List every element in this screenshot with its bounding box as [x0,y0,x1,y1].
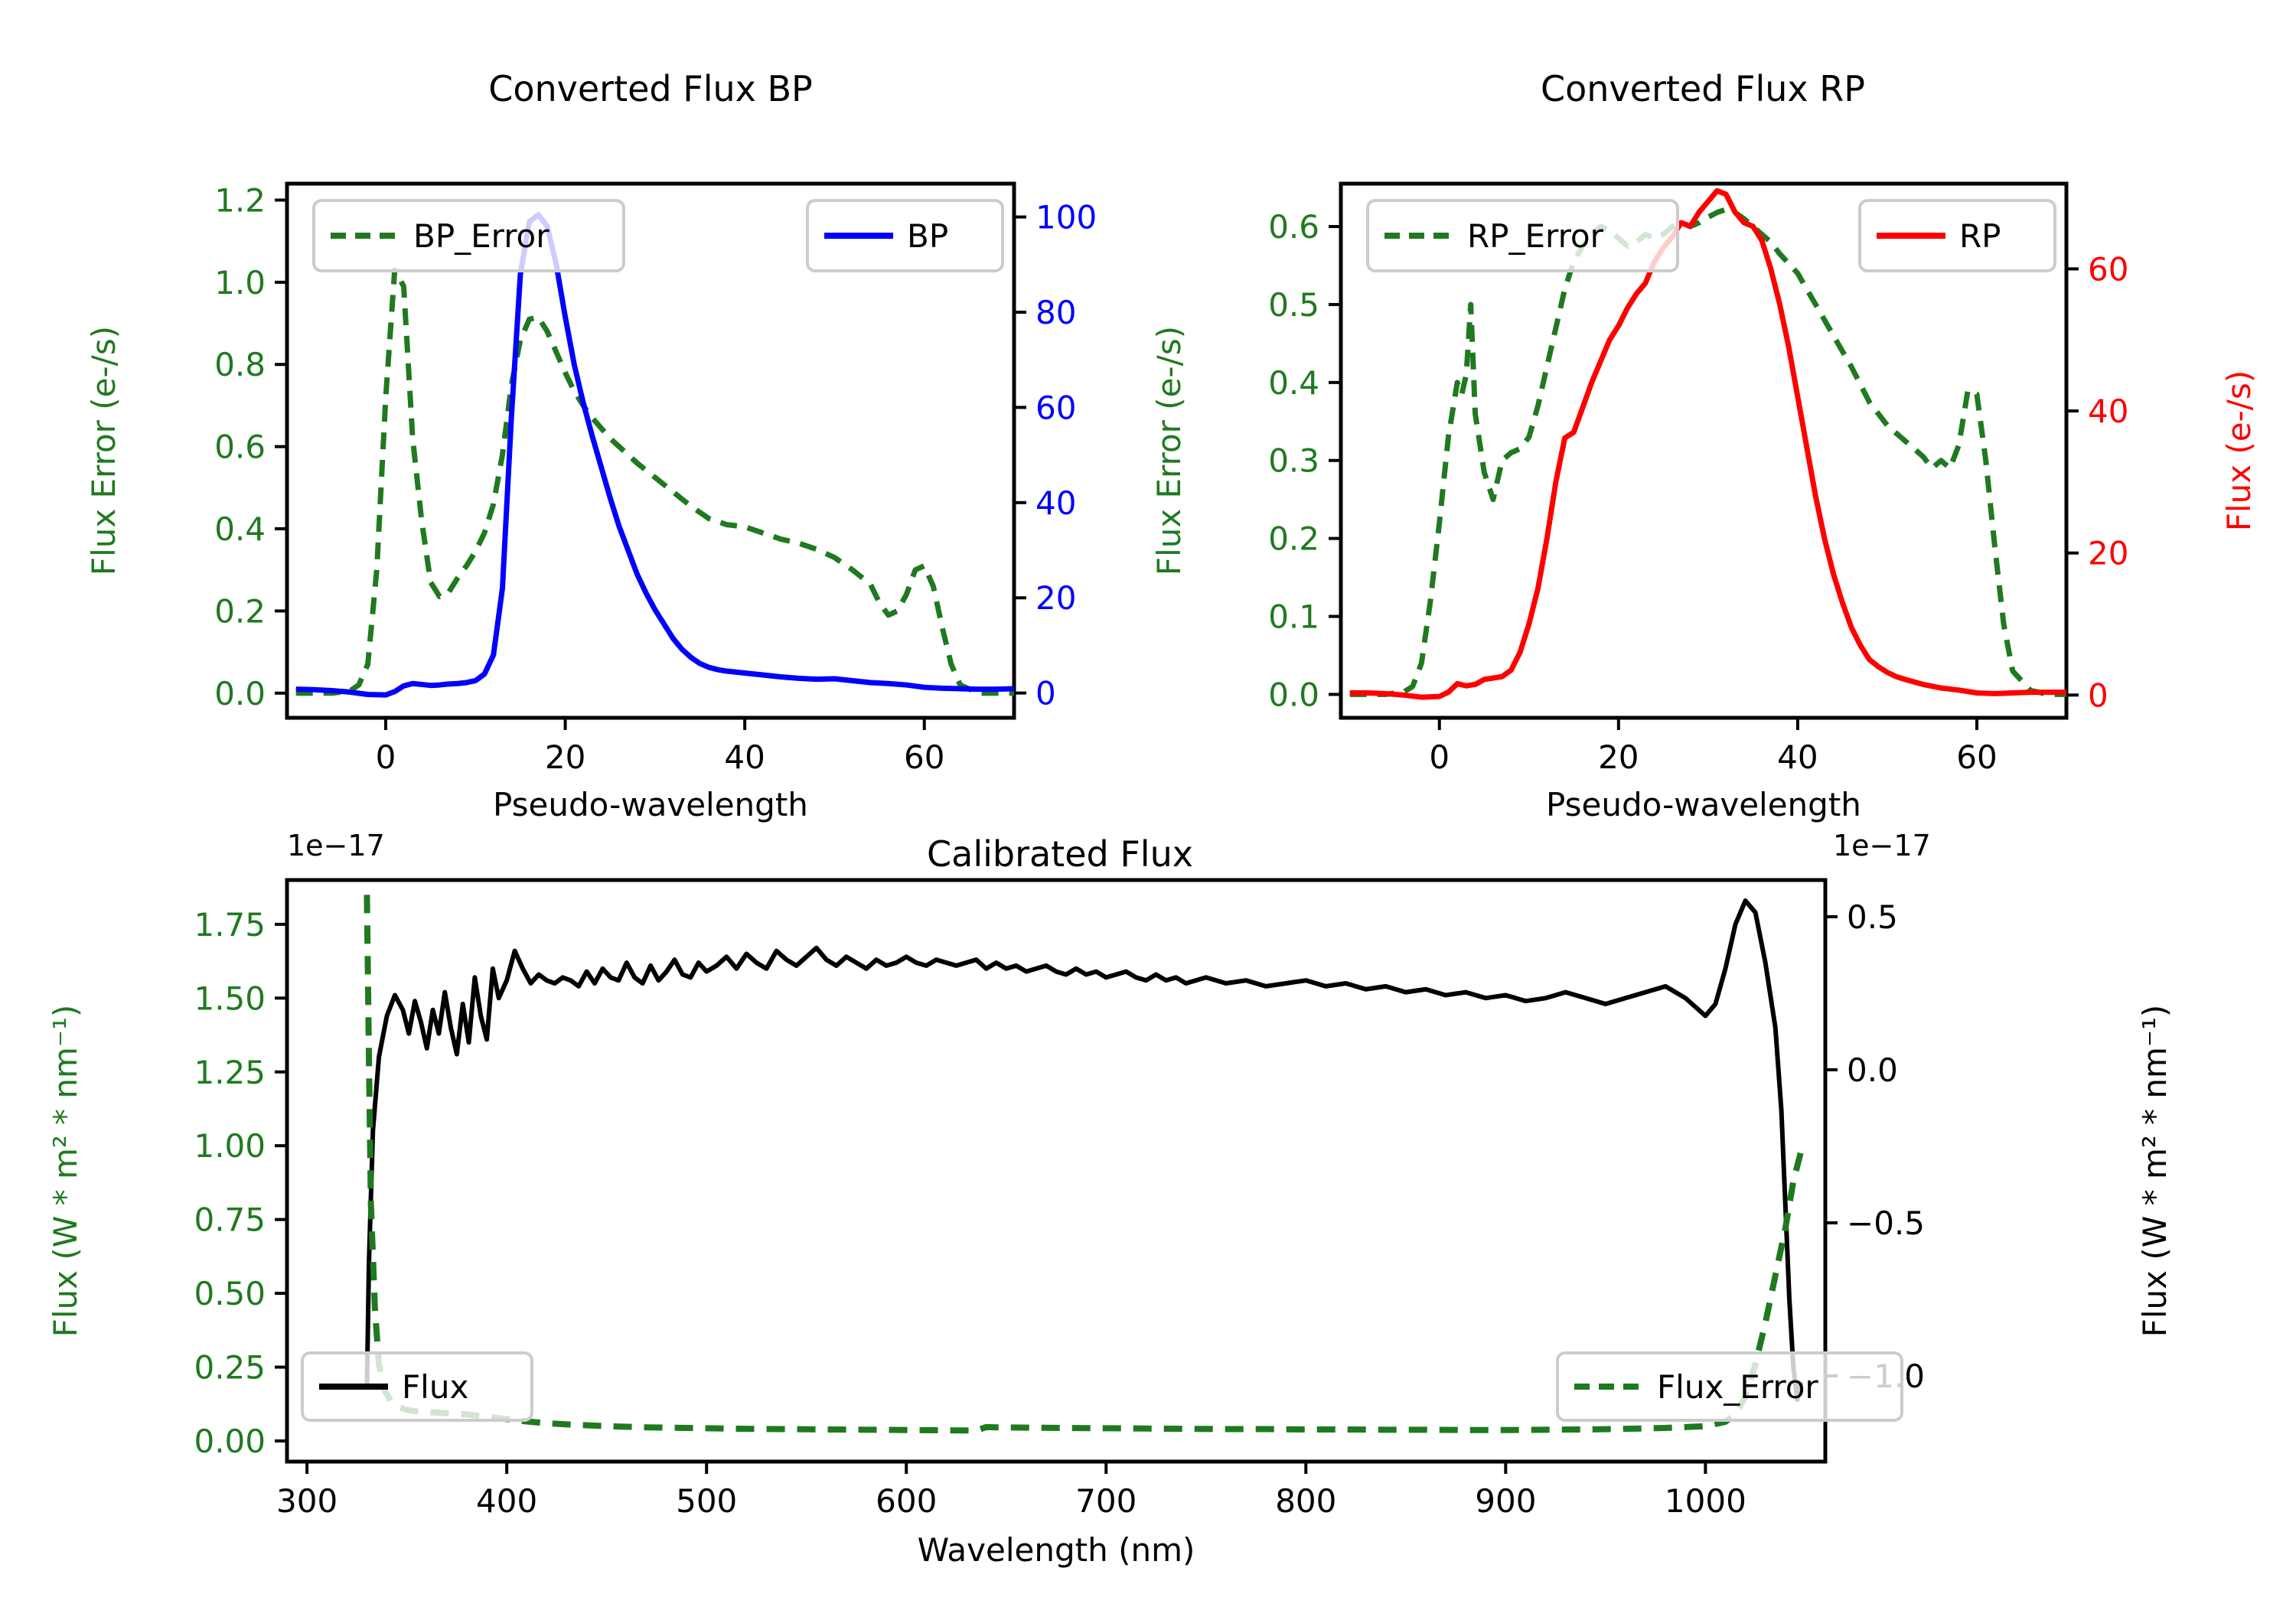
x-tick-label: 0 [1429,738,1450,776]
y-tick-label-left: 1.00 [194,1127,266,1165]
series-line-bp_error [296,270,1014,693]
calibrated-title: Calibrated Flux [927,833,1193,875]
calibrated-svg: Calibrated Flux 1e−17 1e−17 300400500600… [0,826,2296,1607]
legend-label-rp: RP [1959,217,2001,255]
y-tick-label-right: 80 [1035,294,1076,331]
legend-bp-error[interactable]: BP_Error [314,200,624,271]
rp-svg: Converted Flux RP 0204060Pseudo-waveleng… [1148,61,2296,842]
y-tick-label-right: 20 [2088,535,2128,572]
x-axis-label: Pseudo-wavelength [493,786,808,823]
x-tick-label: 60 [1956,738,1997,776]
y-tick-label-left: 1.25 [194,1054,266,1091]
y-tick-label-left: 0.50 [194,1275,266,1312]
legend-label-flux: Flux [402,1368,468,1406]
y-tick-label-right: −0.5 [1847,1204,1925,1242]
y-axis-label-left: Flux Error (e-/s) [85,326,122,575]
x-tick-label: 40 [1777,738,1818,776]
y-axis-label-right: Flux (W * m² * nm⁻¹) [2136,1005,2174,1338]
y-tick-label-left: 0.2 [1268,520,1319,558]
x-tick-label: 700 [1075,1482,1137,1520]
x-tick-label: 500 [676,1482,737,1520]
y-tick-label-left: 1.50 [194,980,266,1017]
calibrated-left-offset-label: 1e−17 [287,829,385,862]
figure-canvas: Converted Flux BP 0204060Pseudo-waveleng… [0,0,2296,1607]
x-tick-label: 20 [545,738,585,776]
y-tick-label-right: 100 [1035,199,1097,236]
y-tick-label-left: 1.2 [214,181,266,219]
y-tick-label-left: 0.6 [1268,208,1319,246]
y-tick-label-left: 0.6 [214,429,266,466]
y-tick-label-right: 20 [1035,579,1076,617]
y-tick-label-right: 0 [2088,676,2108,714]
x-tick-label: 60 [904,738,944,776]
y-tick-label-left: 0.4 [1268,364,1319,402]
y-tick-label-right: 0.0 [1847,1051,1898,1089]
panel-calibrated-flux: Calibrated Flux 1e−17 1e−17 300400500600… [0,826,2296,1607]
legend-label-bp: BP [907,217,948,255]
y-tick-label-right: 40 [2088,393,2128,430]
y-tick-label-left: 0.8 [214,346,266,383]
legend-label-flux-error: Flux_Error [1657,1368,1818,1406]
calibrated-right-offset-label: 1e−17 [1833,829,1931,862]
y-tick-label-right: 0.5 [1847,898,1898,936]
y-tick-label-left: 1.0 [214,264,266,302]
legend-label-rp-error: RP_Error [1467,217,1604,255]
x-tick-label: 900 [1475,1482,1536,1520]
series-line-rp_error [1350,210,2066,695]
y-tick-label-left: 0.00 [194,1423,266,1460]
legend-bp[interactable]: BP [807,200,1003,271]
legend-rp-error[interactable]: RP_Error [1368,200,1678,271]
y-tick-label-left: 0.25 [194,1349,266,1387]
y-tick-label-left: 0.3 [1268,442,1319,480]
panel-converted-flux-bp: Converted Flux BP 0204060Pseudo-waveleng… [0,61,1148,842]
y-tick-label-left: 0.0 [1268,676,1319,713]
bp-title: Converted Flux BP [488,68,813,109]
y-tick-label-left: 0.0 [214,675,266,712]
y-axis-label-right: Flux (e-/s) [2220,370,2258,531]
x-axis-label: Wavelength (nm) [918,1531,1195,1569]
legend-flux-error[interactable]: Flux_Error [1557,1353,1902,1420]
x-tick-label: 300 [276,1482,338,1520]
x-tick-label: 40 [724,738,765,776]
y-tick-label-left: 1.75 [194,906,266,944]
x-tick-label: 600 [876,1482,937,1520]
y-axis-label-left: Flux Error (e-/s) [1150,326,1188,575]
y-tick-label-right: 60 [1035,389,1076,426]
bp-svg: Converted Flux BP 0204060Pseudo-waveleng… [0,61,1148,842]
y-tick-label-right: 40 [1035,484,1076,522]
x-tick-label: 1000 [1665,1482,1746,1520]
y-tick-label-left: 0.2 [214,592,266,630]
y-axis-label-left: Flux (W * m² * nm⁻¹) [47,1005,84,1338]
y-tick-label-right: 60 [2088,250,2128,288]
x-tick-label: 20 [1598,738,1639,776]
y-tick-label-right: 0 [1035,675,1056,712]
x-axis-label: Pseudo-wavelength [1546,786,1861,823]
y-tick-label-left: 0.4 [214,510,266,548]
legend-label-bp-error: BP_Error [413,217,550,255]
x-tick-label: 400 [476,1482,537,1520]
panel-converted-flux-rp: Converted Flux RP 0204060Pseudo-waveleng… [1148,61,2296,842]
x-tick-label: 0 [376,738,396,776]
y-tick-label-left: 0.5 [1268,286,1319,324]
y-tick-label-left: 0.1 [1268,598,1319,636]
y-tick-label-left: 0.75 [194,1201,266,1239]
legend-flux[interactable]: Flux [302,1353,532,1420]
legend-rp[interactable]: RP [1860,200,2055,271]
rp-title: Converted Flux RP [1541,68,1865,109]
series-line-flux [367,901,1801,1400]
x-tick-label: 800 [1275,1482,1336,1520]
